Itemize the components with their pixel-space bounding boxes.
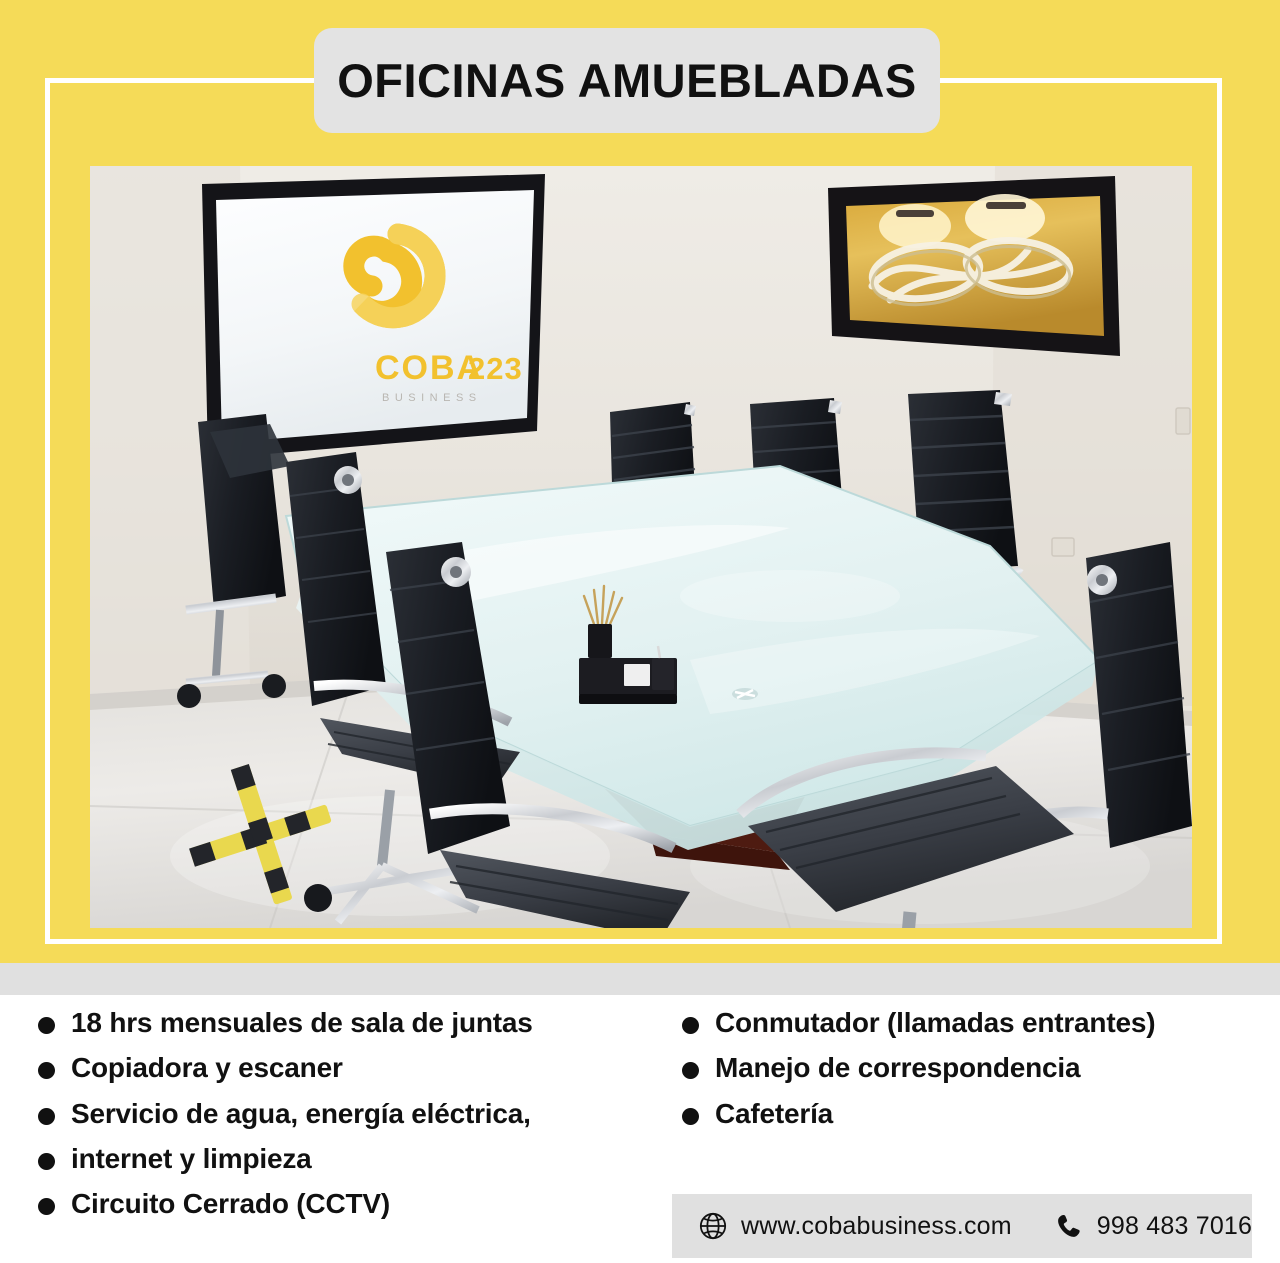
feature-label: Servicio de agua, energía eléctrica, <box>71 1098 531 1129</box>
features-left-column: 18 hrs mensuales de sala de juntas Copia… <box>38 1007 663 1234</box>
phone-icon <box>1054 1211 1084 1241</box>
bullet-dot-icon <box>38 1062 55 1079</box>
section-divider-band <box>0 963 1280 995</box>
feature-label: Conmutador (llamadas entrantes) <box>715 1007 1155 1038</box>
feature-label: Copiadora y escaner <box>71 1052 343 1083</box>
svg-text:BUSINESS: BUSINESS <box>382 392 482 404</box>
bullet-dot-icon <box>682 1062 699 1079</box>
feature-label: Cafetería <box>715 1098 833 1129</box>
page-title-chip: OFICINAS AMUEBLADAS <box>314 28 940 133</box>
hero-panel: COBA 223 BUSINESS <box>0 0 1280 963</box>
list-item: Conmutador (llamadas entrantes) <box>682 1007 1242 1038</box>
feature-label: internet y limpieza <box>71 1143 312 1174</box>
bullet-dot-icon <box>682 1017 699 1034</box>
list-item: Copiadora y escaner <box>38 1052 663 1083</box>
phone-text: 998 483 7016 <box>1097 1212 1252 1241</box>
list-item: Servicio de agua, energía eléctrica, <box>38 1098 663 1129</box>
svg-text:223: 223 <box>468 351 523 386</box>
website-text: www.cobabusiness.com <box>741 1212 1012 1241</box>
website-contact[interactable]: www.cobabusiness.com <box>698 1211 1012 1241</box>
wall-art <box>828 176 1120 356</box>
phone-contact[interactable]: 998 483 7016 <box>1054 1211 1252 1241</box>
conference-room-photo: COBA 223 BUSINESS <box>90 166 1192 928</box>
feature-label: 18 hrs mensuales de sala de juntas <box>71 1007 533 1038</box>
flyer-root: COBA 223 BUSINESS <box>0 0 1280 1263</box>
bullet-dot-icon <box>38 1108 55 1125</box>
bullet-dot-icon <box>682 1108 699 1125</box>
contact-bar: www.cobabusiness.com 998 483 7016 <box>672 1194 1252 1258</box>
bullet-dot-icon <box>38 1153 55 1170</box>
feature-label: Manejo de correspondencia <box>715 1052 1080 1083</box>
bullet-dot-icon <box>38 1198 55 1215</box>
feature-label: Circuito Cerrado (CCTV) <box>71 1188 390 1219</box>
features-section: 18 hrs mensuales de sala de juntas Copia… <box>0 995 1280 1263</box>
page-title: OFICINAS AMUEBLADAS <box>337 53 917 108</box>
list-item: Cafetería <box>682 1098 1242 1129</box>
list-item: 18 hrs mensuales de sala de juntas <box>38 1007 663 1038</box>
features-right-column: Conmutador (llamadas entrantes) Manejo d… <box>682 1007 1242 1143</box>
bullet-dot-icon <box>38 1017 55 1034</box>
list-item: Circuito Cerrado (CCTV) <box>38 1188 663 1219</box>
svg-text:COBA: COBA <box>375 349 483 387</box>
list-item: internet y limpieza <box>38 1143 663 1174</box>
globe-icon <box>698 1211 728 1241</box>
list-item: Manejo de correspondencia <box>682 1052 1242 1083</box>
